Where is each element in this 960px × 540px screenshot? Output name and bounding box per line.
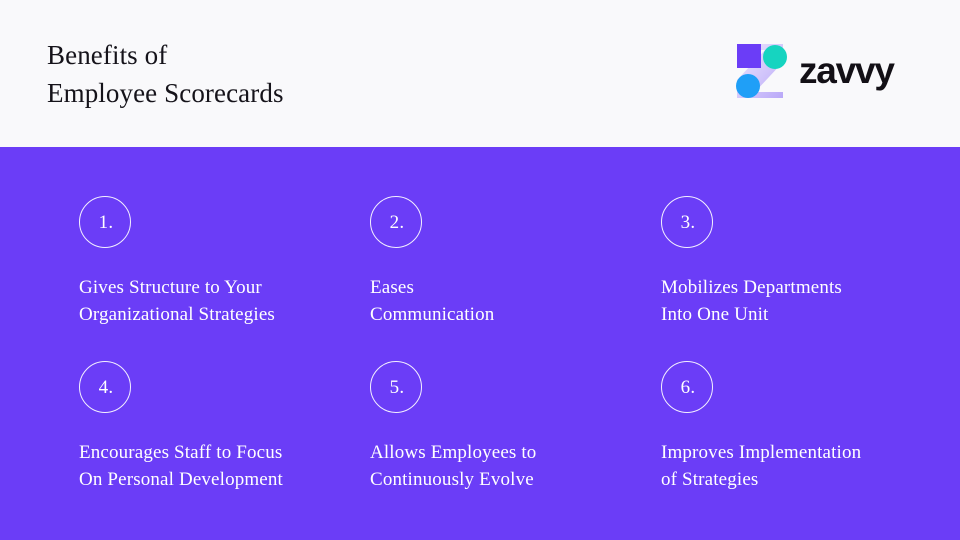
- brand-wordmark: zavvy: [799, 50, 894, 92]
- zavvy-logo-icon: [731, 42, 787, 100]
- benefit-item-2: 2. Eases Communication: [370, 196, 494, 328]
- benefit-label: Encourages Staff to Focus On Personal De…: [79, 439, 283, 493]
- benefit-item-3: 3. Mobilizes Departments Into One Unit: [661, 196, 842, 328]
- benefit-number-badge: 2.: [370, 196, 422, 248]
- benefit-number-badge: 6.: [661, 361, 713, 413]
- benefit-label: Improves Implementation of Strategies: [661, 439, 861, 493]
- benefit-label: Allows Employees to Continuously Evolve: [370, 439, 536, 493]
- header-band: Benefits of Employee Scorecards: [0, 0, 960, 147]
- benefit-number-badge: 1.: [79, 196, 131, 248]
- benefit-item-1: 1. Gives Structure to Your Organizationa…: [79, 196, 275, 328]
- page-title: Benefits of Employee Scorecards: [47, 36, 284, 112]
- benefit-number-badge: 5.: [370, 361, 422, 413]
- brand-logo: zavvy: [731, 42, 907, 100]
- benefit-item-6: 6. Improves Implementation of Strategies: [661, 361, 861, 493]
- benefit-item-4: 4. Encourages Staff to Focus On Personal…: [79, 361, 283, 493]
- benefit-label: Mobilizes Departments Into One Unit: [661, 274, 842, 328]
- benefit-label: Gives Structure to Your Organizational S…: [79, 274, 275, 328]
- benefit-item-5: 5. Allows Employees to Continuously Evol…: [370, 361, 536, 493]
- benefit-label: Eases Communication: [370, 274, 494, 328]
- benefit-number-badge: 3.: [661, 196, 713, 248]
- slide-canvas: Benefits of Employee Scorecards: [0, 0, 960, 540]
- benefits-grid: 1. Gives Structure to Your Organizationa…: [0, 147, 960, 540]
- benefit-number-badge: 4.: [79, 361, 131, 413]
